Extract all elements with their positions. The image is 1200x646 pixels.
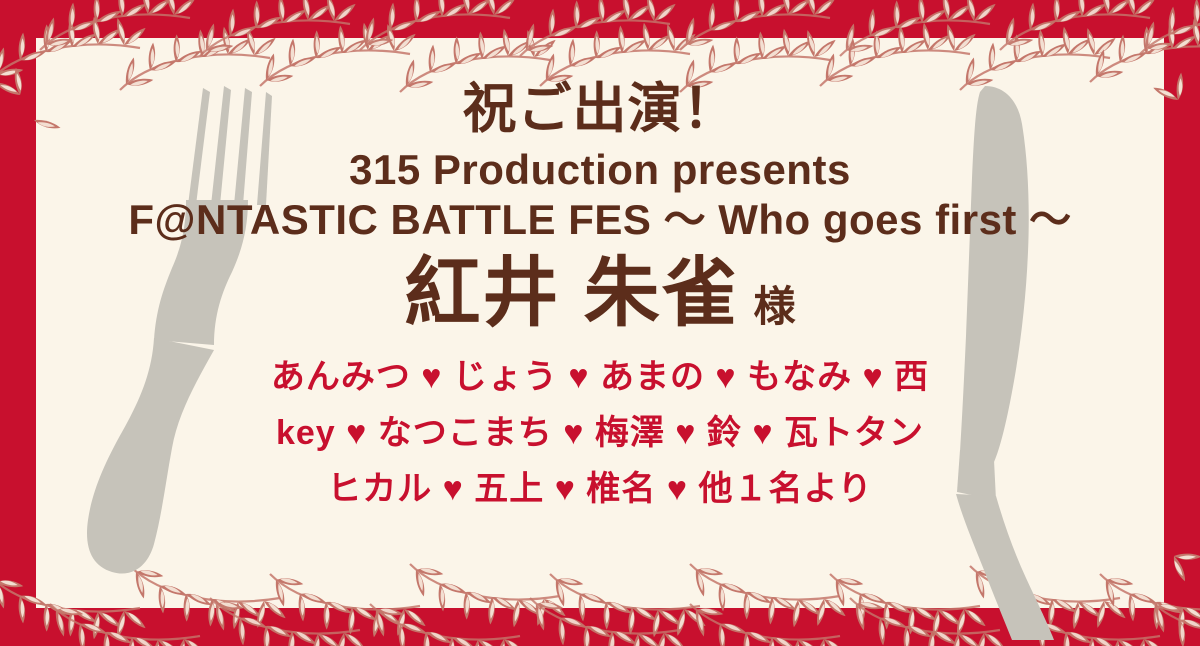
headline-japanese: 祝ご出演！	[463, 82, 738, 136]
honoree-suffix: 様	[754, 286, 796, 332]
signers-line-2: key ♥ なつこまち ♥ 梅澤 ♥ 鈴 ♥ 瓦トタン	[276, 416, 924, 450]
signers-line-3: ヒカル ♥ 五上 ♥ 椎名 ♥ 他１名より	[327, 472, 873, 506]
celebration-card: 祝ご出演！ 315 Production presents F@NTASTIC …	[0, 0, 1200, 646]
event-title-line: F@NTASTIC BATTLE FES ～ Who goes first ～	[128, 198, 1071, 242]
signers-line-1: あんみつ ♥ じょう ♥ あまの ♥ もなみ ♥ 西	[271, 360, 929, 394]
honoree-name: 紅井 朱雀	[404, 256, 739, 332]
presenter-line: 315 Production presents	[349, 148, 851, 192]
honoree-row: 紅井 朱雀 様	[404, 256, 795, 332]
card-content: 祝ご出演！ 315 Production presents F@NTASTIC …	[0, 0, 1200, 646]
